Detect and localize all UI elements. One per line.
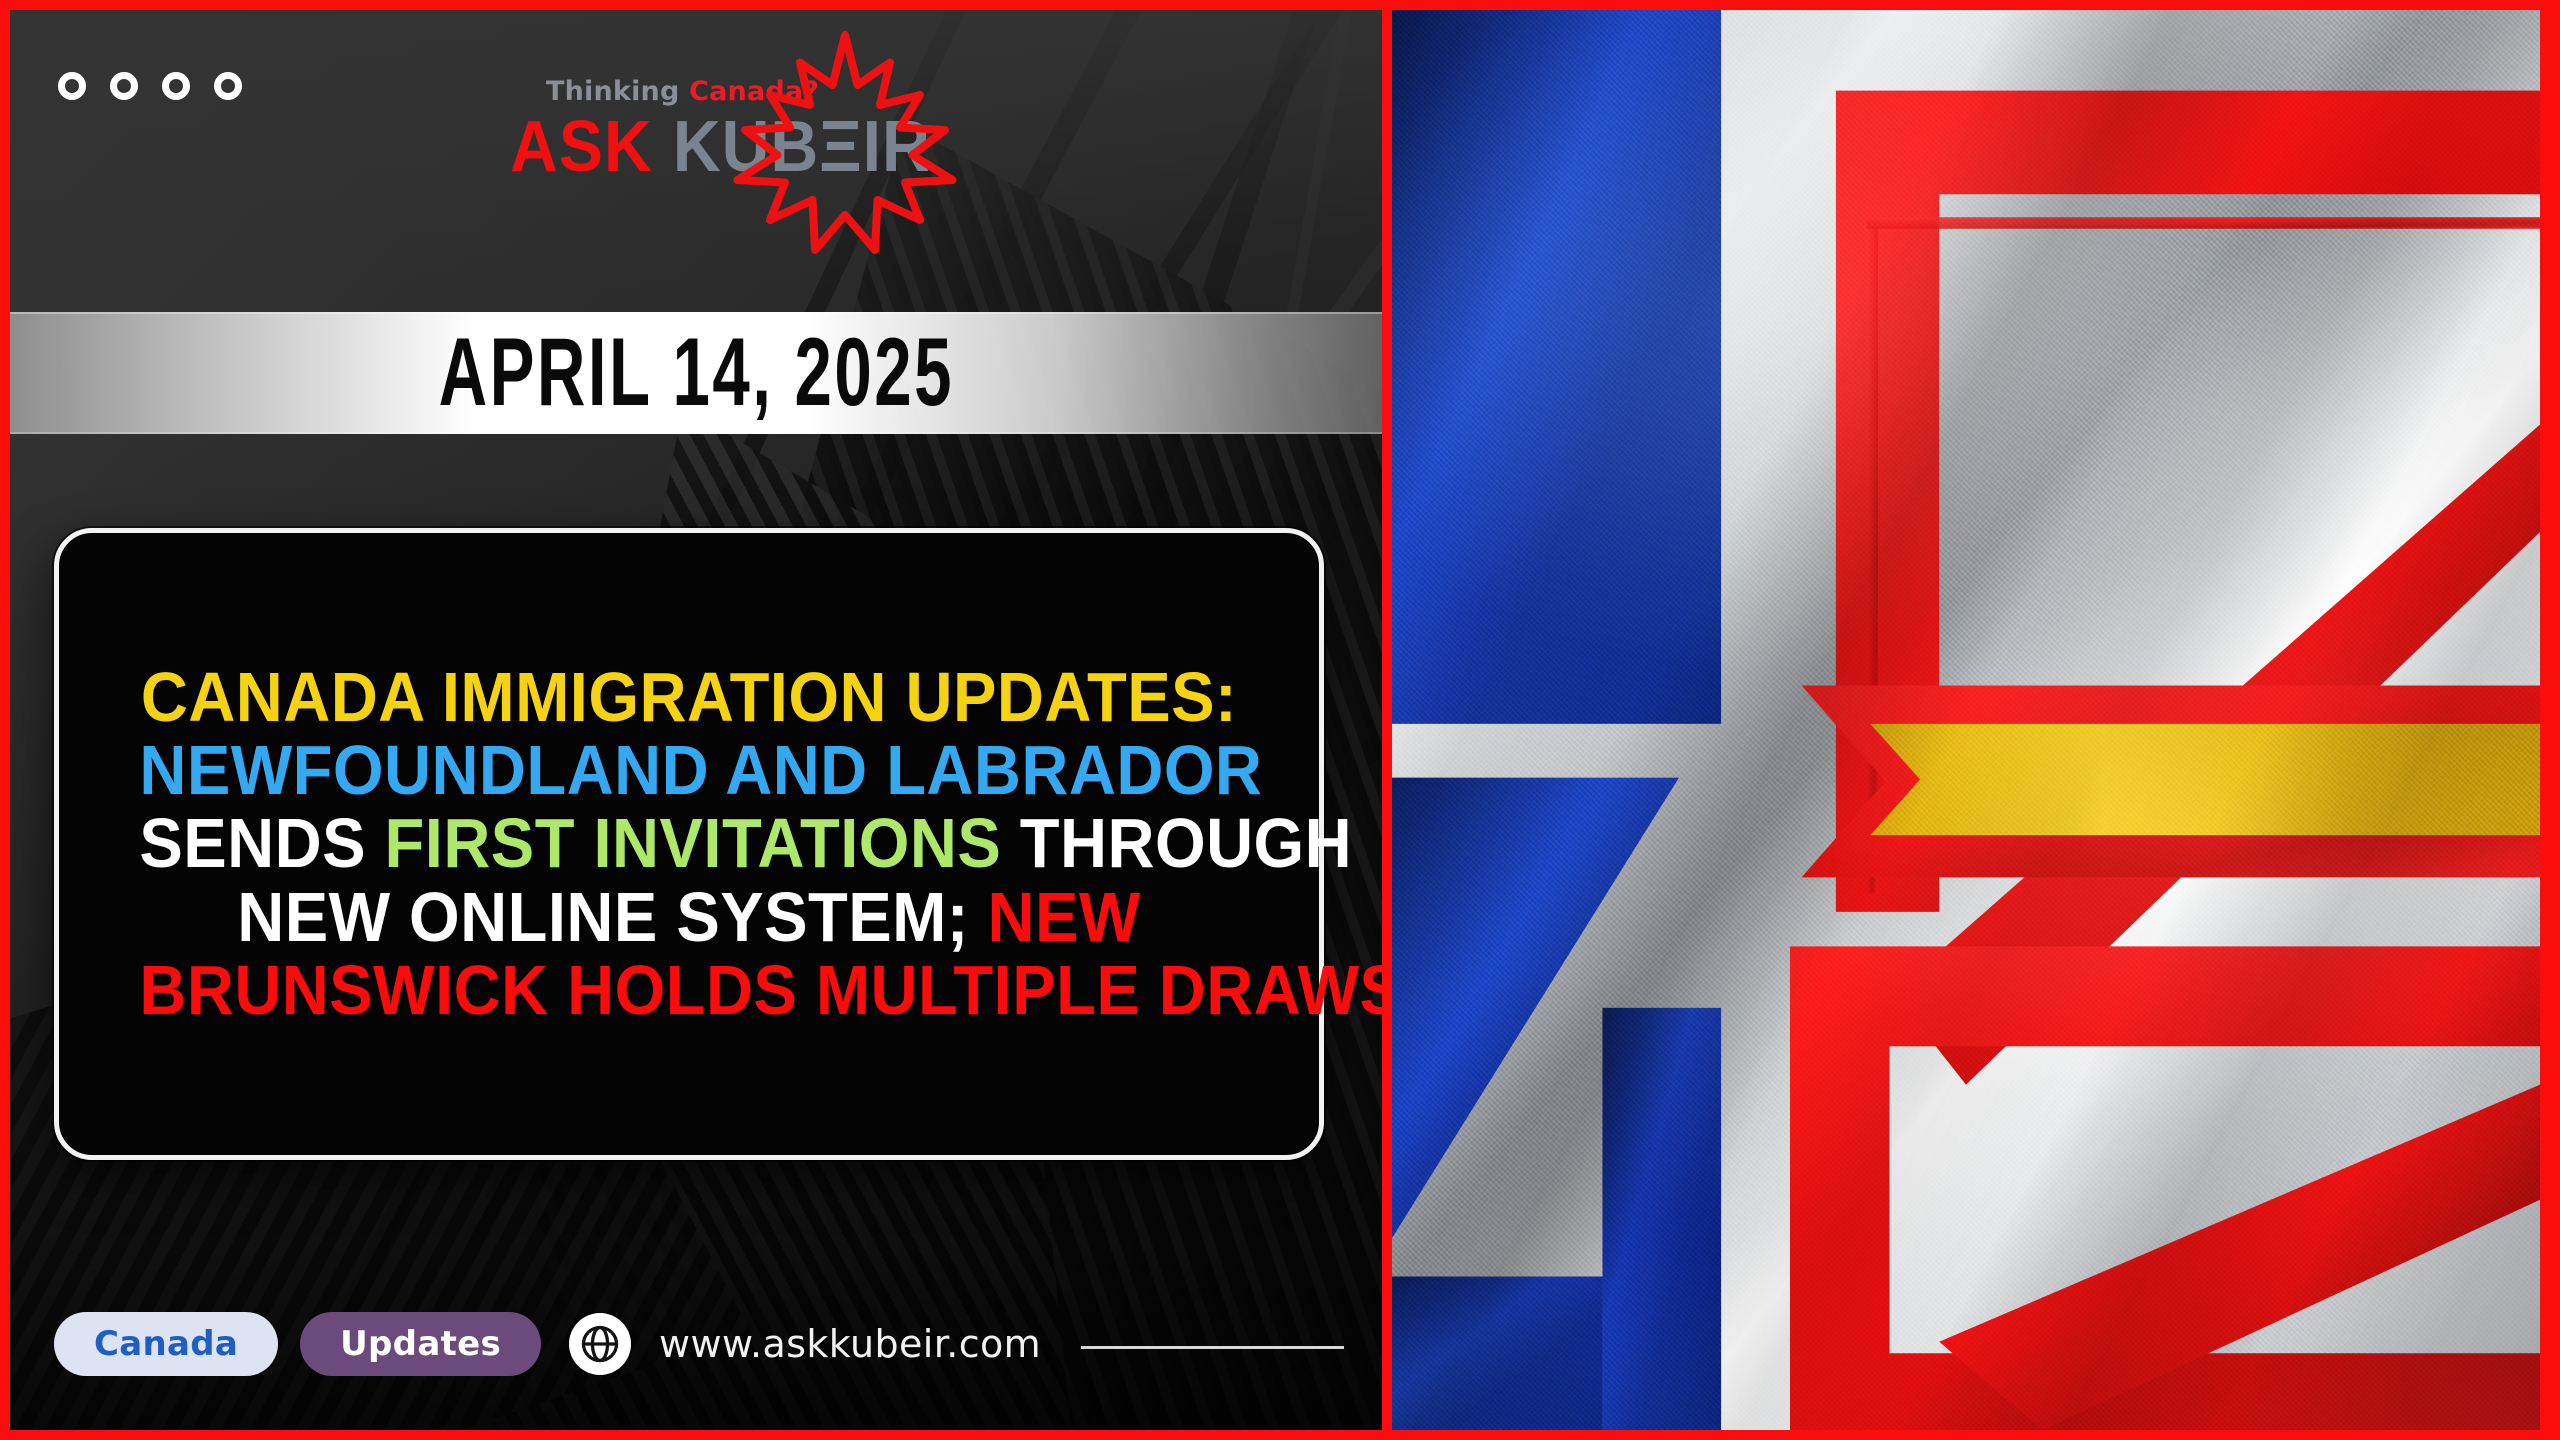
headline-seg-4a: NEW ONLINE SYSTEM;: [237, 878, 987, 956]
headline-seg-3a: SENDS: [139, 804, 384, 882]
headline-seg-2: NEWFOUNDLAND AND LABRADOR: [139, 731, 1262, 809]
social-media-poster: Thinking Canada? ASKKUBΞIR APRIL 14, 202…: [0, 0, 2560, 1440]
headline-line-3: SENDS FIRST INVITATIONS THROUGH: [139, 807, 1238, 880]
window-control-dot-1[interactable]: [58, 72, 86, 100]
window-controls: [58, 72, 242, 100]
content-panel: Thinking Canada? ASKKUBΞIR APRIL 14, 202…: [10, 10, 1382, 1430]
logo-tagline: Thinking Canada?: [546, 76, 819, 107]
footer-rule: [1081, 1346, 1344, 1349]
headline-card: CANADA IMMIGRATION UPDATES: NEWFOUNDLAND…: [54, 528, 1324, 1160]
brand-logo[interactable]: Thinking Canada? ASKKUBΞIR: [510, 54, 930, 214]
headline-line-1: CANADA IMMIGRATION UPDATES:: [139, 661, 1238, 734]
headline-seg-3c: THROUGH: [1001, 804, 1352, 882]
website-url[interactable]: www.askkubeir.com: [659, 1322, 1041, 1366]
headline-line-2: NEWFOUNDLAND AND LABRADOR: [139, 734, 1238, 807]
headline-seg-4b: NEW: [988, 878, 1141, 956]
window-control-dot-3[interactable]: [162, 72, 190, 100]
tag-canada[interactable]: Canada: [54, 1312, 278, 1376]
logo-word-kubeir: KUBΞIR: [673, 107, 931, 187]
headline-seg-3b: FIRST INVITATIONS: [385, 804, 1002, 882]
window-control-dot-2[interactable]: [110, 72, 138, 100]
headline-line-4: NEW ONLINE SYSTEM; NEW: [139, 881, 1238, 954]
newfoundland-and-labrador-flag: [1392, 10, 2540, 1430]
headline-seg-1: CANADA IMMIGRATION UPDATES:: [141, 658, 1237, 736]
date-banner: APRIL 14, 2025: [10, 312, 1382, 434]
tag-updates[interactable]: Updates: [300, 1312, 541, 1376]
globe-icon: [569, 1313, 631, 1375]
logo-tagline-accent: Canada?: [689, 76, 819, 107]
headline-seg-5: BRUNSWICK HOLDS MULTIPLE DRAWS: [139, 951, 1382, 1029]
footer-bar: Canada Updates www.askkubeir.com: [54, 1306, 1344, 1382]
flag-panel: [1392, 10, 2540, 1430]
logo-tagline-prefix: Thinking: [546, 76, 689, 107]
window-control-dot-4[interactable]: [214, 72, 242, 100]
headline-text: CANADA IMMIGRATION UPDATES: NEWFOUNDLAND…: [139, 661, 1238, 1027]
logo-word-ask: ASK: [510, 107, 653, 187]
logo-wordmark: ASKKUBΞIR: [510, 106, 931, 188]
headline-line-5: BRUNSWICK HOLDS MULTIPLE DRAWS: [139, 954, 1238, 1027]
date-text: APRIL 14, 2025: [438, 318, 953, 429]
